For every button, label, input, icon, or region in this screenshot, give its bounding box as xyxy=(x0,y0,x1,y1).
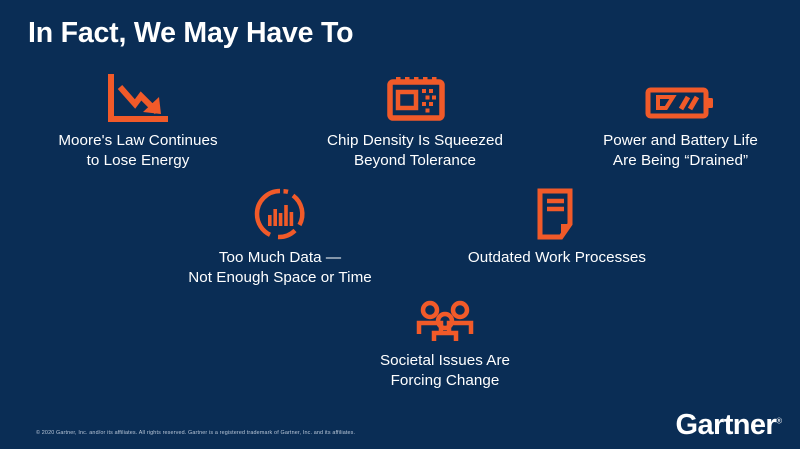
item-moores-law: Moore's Law Continues to Lose Energy xyxy=(19,73,257,170)
item-label: Chip Density Is Squeezed Beyond Toleranc… xyxy=(296,131,534,170)
registered-mark-icon: ® xyxy=(776,416,782,425)
people-group-icon xyxy=(325,293,565,343)
document-icon xyxy=(442,190,672,240)
item-too-much-data: Too Much Data — Not Enough Space or Time xyxy=(155,190,405,287)
item-label: Too Much Data — Not Enough Space or Time xyxy=(155,248,405,287)
slide-canvas: In Fact, We May Have To Moore's Law Cont… xyxy=(0,0,800,449)
page-title: In Fact, We May Have To xyxy=(28,17,353,50)
item-label: Outdated Work Processes xyxy=(442,248,672,268)
gartner-logo-text: Gartner xyxy=(676,409,777,441)
item-outdated-work: Outdated Work Processes xyxy=(442,190,672,268)
item-societal-issues: Societal Issues Are Forcing Change xyxy=(325,293,565,390)
item-label: Moore's Law Continues to Lose Energy xyxy=(19,131,257,170)
item-label: Power and Battery Life Are Being “Draine… xyxy=(568,131,793,170)
declining-chart-icon xyxy=(19,73,257,123)
item-label: Societal Issues Are Forcing Change xyxy=(325,351,565,390)
microchip-icon xyxy=(296,73,534,123)
copyright-text: © 2020 Gartner, Inc. and/or its affiliat… xyxy=(36,430,355,436)
item-power-battery: Power and Battery Life Are Being “Draine… xyxy=(568,73,793,170)
gartner-logo: Gartner® xyxy=(676,411,782,440)
item-chip-density: Chip Density Is Squeezed Beyond Toleranc… xyxy=(296,73,534,170)
battery-icon xyxy=(568,73,793,123)
data-bars-circle-icon xyxy=(155,190,405,240)
